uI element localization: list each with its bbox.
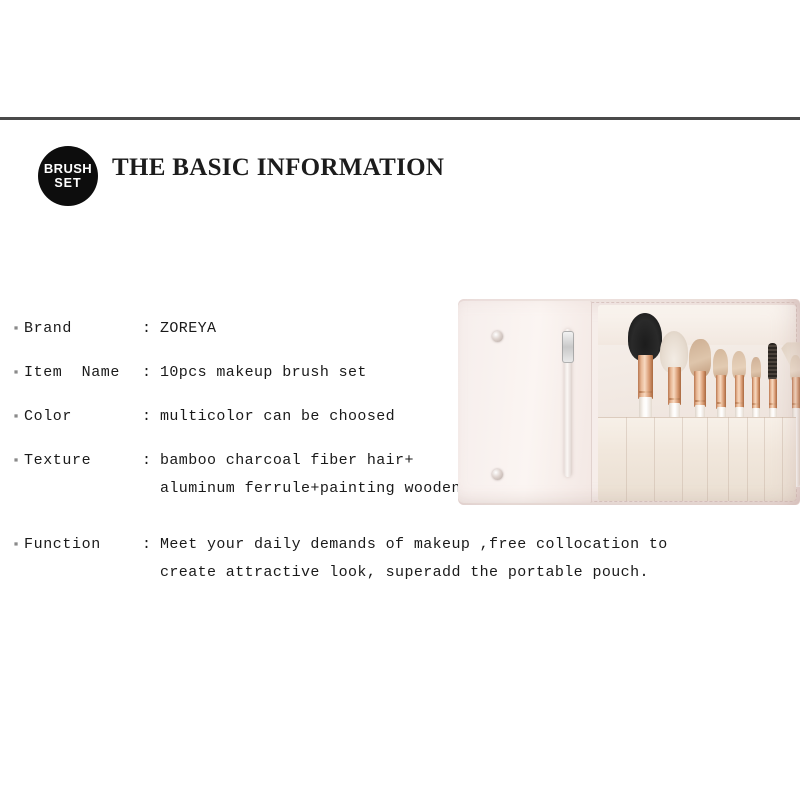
ferrule-ring [752, 403, 760, 405]
sleeve-divider [707, 417, 708, 501]
ferrule-ring [735, 402, 744, 404]
spec-label: Function [24, 534, 142, 556]
ferrule-ring [717, 402, 726, 404]
header-divider [0, 117, 800, 120]
ferrule-ring [669, 398, 680, 400]
ferrule-ring [639, 391, 652, 393]
bullet-icon: ▪ [8, 450, 24, 472]
spec-colon: : [142, 406, 160, 428]
snap-button-top [492, 331, 503, 342]
snap-button-bottom [492, 469, 503, 480]
ferrule-ring [792, 403, 800, 405]
sleeve-divider [782, 417, 783, 501]
bullet-icon: ▪ [8, 318, 24, 340]
sleeve-divider [654, 417, 655, 501]
badge-line-brush: BRUSH [44, 162, 92, 176]
spec-value: ZOREYA [160, 318, 216, 340]
bullet-icon: ▪ [8, 534, 24, 556]
product-info-page: BRUSH SET THE BASIC INFORMATION ▪ Brand … [0, 0, 800, 800]
bullet-icon: ▪ [8, 362, 24, 384]
spec-value: 10pcs makeup brush set [160, 362, 367, 384]
page-header: BRUSH SET THE BASIC INFORMATION [0, 70, 800, 140]
spec-row-function: ▪ Function : Meet your daily demands of … [8, 534, 708, 584]
sleeve-divider [728, 417, 729, 501]
brush-set-badge: BRUSH SET [38, 146, 98, 206]
spec-colon: : [142, 450, 160, 472]
ferrule-ring [769, 403, 777, 405]
spec-colon: : [142, 318, 160, 340]
spec-value-continuation: create attractive look, superadd the por… [160, 562, 708, 584]
spec-label: Texture [24, 450, 142, 472]
sleeve-divider [764, 417, 765, 501]
badge-line-set: SET [54, 176, 81, 190]
product-image [458, 299, 800, 505]
zipper-pull-icon [562, 331, 574, 363]
page-title: THE BASIC INFORMATION [112, 154, 452, 182]
brush-bristle [768, 343, 777, 381]
spec-colon: : [142, 534, 160, 556]
spec-label: Item Name [24, 362, 142, 384]
brush-sleeve [598, 417, 796, 501]
sleeve-divider [682, 417, 683, 501]
spec-value: bamboo charcoal fiber hair+ [160, 450, 414, 472]
sleeve-divider [747, 417, 748, 501]
bullet-icon: ▪ [8, 406, 24, 428]
spec-label: Brand [24, 318, 142, 340]
sleeve-divider [626, 417, 627, 501]
spec-label: Color [24, 406, 142, 428]
spec-colon: : [142, 362, 160, 384]
spec-value: Meet your daily demands of makeup ,free … [160, 534, 668, 556]
ferrule-ring [695, 400, 705, 402]
brush-bristle [628, 313, 662, 361]
spec-value: multicolor can be choosed [160, 406, 395, 428]
